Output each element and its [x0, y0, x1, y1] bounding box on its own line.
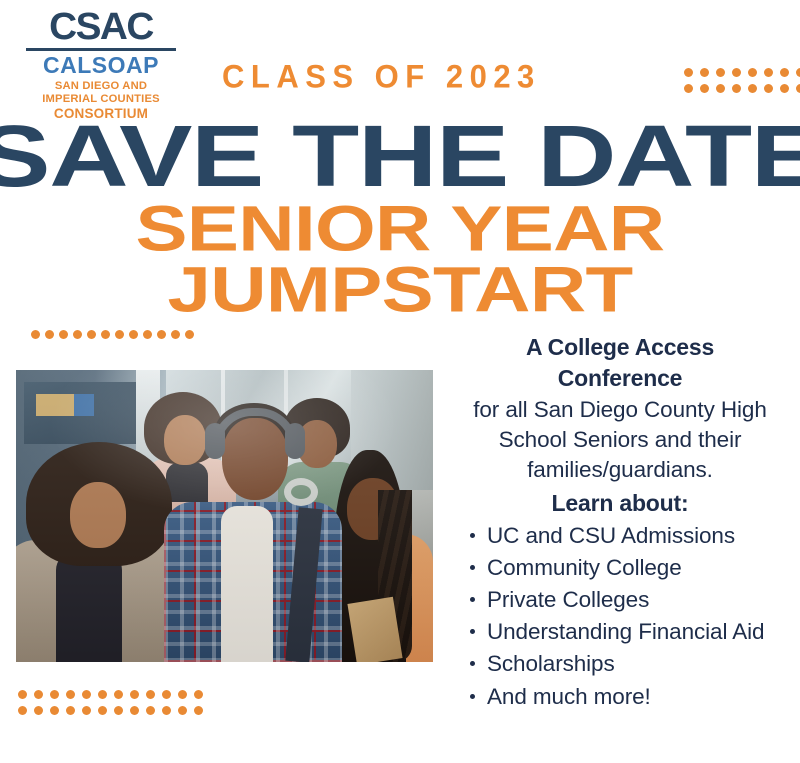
learn-about-list: UC and CSU AdmissionsCommunity CollegePr…	[444, 521, 796, 712]
decor-dot	[34, 706, 43, 715]
photo-background-window-panel-blue	[74, 394, 94, 416]
learn-about-label: Learn about:	[444, 490, 796, 517]
list-item: Community College	[470, 553, 796, 583]
photo-student-center-headphone-right-cup	[285, 423, 305, 459]
decor-dot	[732, 68, 741, 77]
decor-dot	[700, 68, 709, 77]
decor-dot	[796, 84, 800, 93]
decor-dot	[59, 330, 68, 339]
photo-background-window-panel-tan	[36, 394, 74, 416]
photo-student-back-right-neck-headphones	[284, 478, 318, 506]
subtitle-line-1: SENIOR YEAR	[0, 197, 800, 261]
decor-dot	[143, 330, 152, 339]
dot-grid-mid-left-icon	[31, 330, 199, 344]
decor-dot	[780, 84, 789, 93]
decor-dot	[684, 68, 693, 77]
students-photo	[16, 370, 433, 662]
dot-grid-top-right-icon	[684, 68, 800, 100]
info-heading-line-2: Conference	[444, 363, 796, 394]
conference-info-panel: A College Access Conference for all San …	[444, 332, 796, 714]
csac-calsoap-logo: CSAC CALSOAP SAN DIEGO AND IMPERIAL COUN…	[26, 8, 176, 120]
decor-dot	[115, 330, 124, 339]
decor-dot	[162, 706, 171, 715]
decor-dot	[146, 690, 155, 699]
decor-dot	[748, 84, 757, 93]
decor-dot	[66, 706, 75, 715]
decor-dot	[178, 690, 187, 699]
decor-dot	[50, 690, 59, 699]
decor-dot	[162, 690, 171, 699]
decor-dot	[34, 690, 43, 699]
logo-region-lines: SAN DIEGO AND IMPERIAL COUNTIES	[26, 80, 176, 106]
decor-dot	[700, 84, 709, 93]
decor-dot	[82, 690, 91, 699]
decor-dot	[684, 84, 693, 93]
info-description-line-3: families/guardians.	[444, 455, 796, 485]
photo-student-center-headphone-left-cup	[205, 423, 225, 459]
photo-student-center-tshirt	[221, 506, 273, 662]
decor-dot	[18, 690, 27, 699]
decor-dot	[764, 84, 773, 93]
info-description-line-1: for all San Diego County High	[444, 395, 796, 425]
decor-dot	[73, 330, 82, 339]
list-item: Private Colleges	[470, 585, 796, 615]
decor-dot	[129, 330, 138, 339]
decor-dot	[45, 330, 54, 339]
decor-dot	[130, 706, 139, 715]
decor-dot	[732, 84, 741, 93]
decor-dot	[114, 690, 123, 699]
decor-dot	[114, 706, 123, 715]
decor-dot	[98, 706, 107, 715]
decor-dot	[157, 330, 166, 339]
decor-dot	[716, 84, 725, 93]
dot-grid-bottom-left-icon	[18, 690, 210, 722]
decor-dot	[171, 330, 180, 339]
decor-dot	[98, 690, 107, 699]
decor-dot	[764, 68, 773, 77]
decor-dot	[716, 68, 725, 77]
decor-dot	[194, 690, 203, 699]
list-item: UC and CSU Admissions	[470, 521, 796, 551]
logo-acronym: CSAC	[25, 8, 178, 46]
info-heading: A College Access Conference	[444, 332, 796, 393]
eyebrow-class-of: CLASS OF 2023	[222, 58, 541, 96]
list-item: Scholarships	[470, 649, 796, 679]
decor-dot	[82, 706, 91, 715]
info-description-line-2: School Seniors and their	[444, 425, 796, 455]
logo-region-line-2: IMPERIAL COUNTIES	[26, 93, 176, 106]
photo-student-back-left-top	[166, 462, 208, 502]
decor-dot	[87, 330, 96, 339]
logo-program-name: CALSOAP	[26, 54, 176, 77]
photo-student-left-shirt	[56, 552, 122, 662]
decor-dot	[31, 330, 40, 339]
decor-dot	[185, 330, 194, 339]
list-item: And much more!	[470, 682, 796, 712]
decor-dot	[66, 690, 75, 699]
decor-dot	[50, 706, 59, 715]
logo-region-line-1: SAN DIEGO AND	[26, 80, 176, 93]
decor-dot	[101, 330, 110, 339]
logo-divider-rule	[26, 48, 176, 51]
decor-dot	[194, 706, 203, 715]
decor-dot	[748, 68, 757, 77]
subtitle-line-2: JUMPSTART	[0, 258, 800, 322]
list-item: Understanding Financial Aid	[470, 617, 796, 647]
photo-student-left-face	[70, 482, 126, 548]
info-description: for all San Diego County High School Sen…	[444, 395, 796, 485]
save-the-date-poster: CSAC CALSOAP SAN DIEGO AND IMPERIAL COUN…	[0, 0, 800, 763]
info-heading-line-1: A College Access	[444, 332, 796, 363]
decor-dot	[178, 706, 187, 715]
decor-dot	[780, 68, 789, 77]
decor-dot	[18, 706, 27, 715]
decor-dot	[796, 68, 800, 77]
decor-dot	[130, 690, 139, 699]
photo-student-right-notebook	[347, 597, 402, 662]
page-title: SAVE THE DATE	[0, 116, 800, 199]
photo-student-back-left-face	[164, 415, 206, 465]
decor-dot	[146, 706, 155, 715]
